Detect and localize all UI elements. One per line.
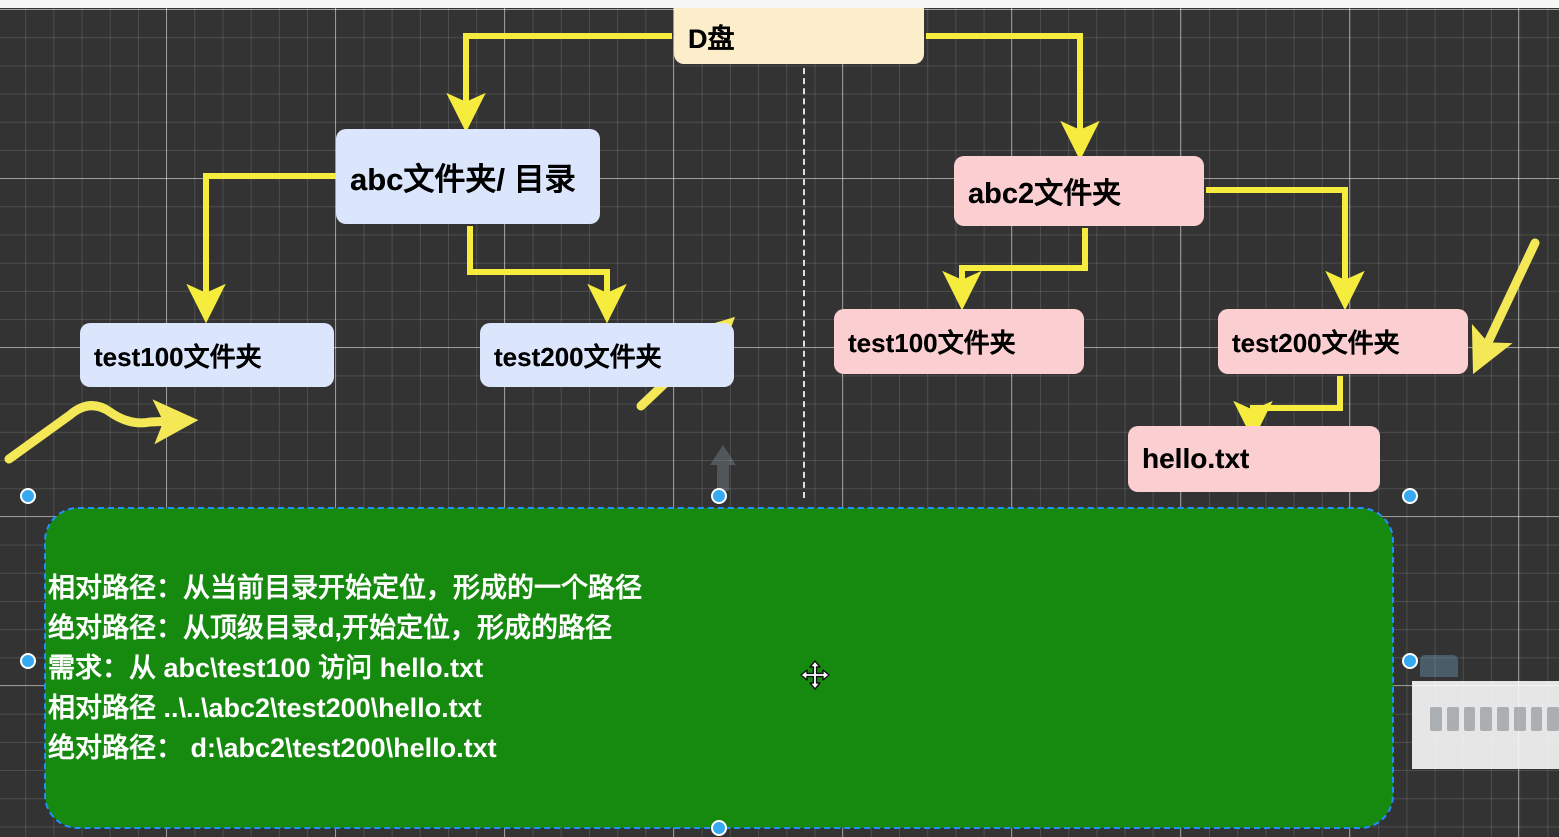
toolbar-icon[interactable] — [1497, 707, 1509, 731]
handle-top-right[interactable] — [1402, 488, 1418, 504]
node-label: test100文件夹 — [848, 323, 1016, 360]
top-strip — [0, 0, 1559, 8]
node-hello-txt[interactable]: hello.txt — [1128, 426, 1380, 492]
node-test200-left[interactable]: test200文件夹 — [480, 323, 734, 387]
page-guide-line — [803, 58, 805, 498]
handle-bottom-center[interactable] — [711, 820, 727, 836]
note-line: 相对路径 ..\..\abc2\test200\hello.txt — [48, 688, 1348, 728]
node-label: test200文件夹 — [494, 337, 662, 374]
toolbar-icon[interactable] — [1480, 707, 1492, 731]
collapse-arrow-icon[interactable] — [708, 443, 738, 493]
note-text: 相对路径：从当前目录开始定位，形成的一个路径 绝对路径：从顶级目录d,开始定位，… — [48, 568, 1348, 768]
node-label: abc文件夹/ 目录 — [350, 154, 576, 199]
node-abc-folder[interactable]: abc文件夹/ 目录 — [336, 129, 600, 224]
toolbar-icon[interactable] — [1464, 707, 1476, 731]
node-test200-right[interactable]: test200文件夹 — [1218, 309, 1468, 374]
toolbar-icon[interactable] — [1447, 707, 1459, 731]
toolbar-icon[interactable] — [1547, 707, 1559, 731]
node-test100-left[interactable]: test100文件夹 — [80, 323, 334, 387]
node-test100-right[interactable]: test100文件夹 — [834, 309, 1084, 374]
screenshot-root: D盘 abc文件夹/ 目录 test100文件夹 test200文件夹 abc2… — [0, 0, 1559, 837]
note-line: 相对路径：从当前目录开始定位，形成的一个路径 — [48, 568, 1348, 608]
node-label: abc2文件夹 — [968, 170, 1121, 212]
node-label: test100文件夹 — [94, 337, 262, 374]
floating-toolbar[interactable] — [1412, 681, 1559, 769]
toolbar-icon[interactable] — [1514, 707, 1526, 731]
note-line: 绝对路径： d:\abc2\test200\hello.txt — [48, 728, 1348, 768]
toolbar-icon[interactable] — [1531, 707, 1543, 731]
node-abc2-folder[interactable]: abc2文件夹 — [954, 156, 1204, 226]
handle-top-center[interactable] — [711, 488, 727, 504]
floating-tab-ghost — [1420, 655, 1458, 677]
node-d-drive[interactable]: D盘 — [674, 8, 924, 64]
node-label: D盘 — [688, 17, 735, 56]
handle-top-left[interactable] — [20, 488, 36, 504]
note-line: 需求：从 abc\test100 访问 hello.txt — [48, 648, 1348, 688]
move-cursor-icon — [800, 660, 830, 690]
handle-middle-right[interactable] — [1402, 653, 1418, 669]
note-line: 绝对路径：从顶级目录d,开始定位，形成的路径 — [48, 608, 1348, 648]
toolbar-icon[interactable] — [1430, 707, 1442, 731]
handle-middle-left[interactable] — [20, 653, 36, 669]
node-label: test200文件夹 — [1232, 323, 1400, 360]
node-label: hello.txt — [1142, 443, 1249, 475]
